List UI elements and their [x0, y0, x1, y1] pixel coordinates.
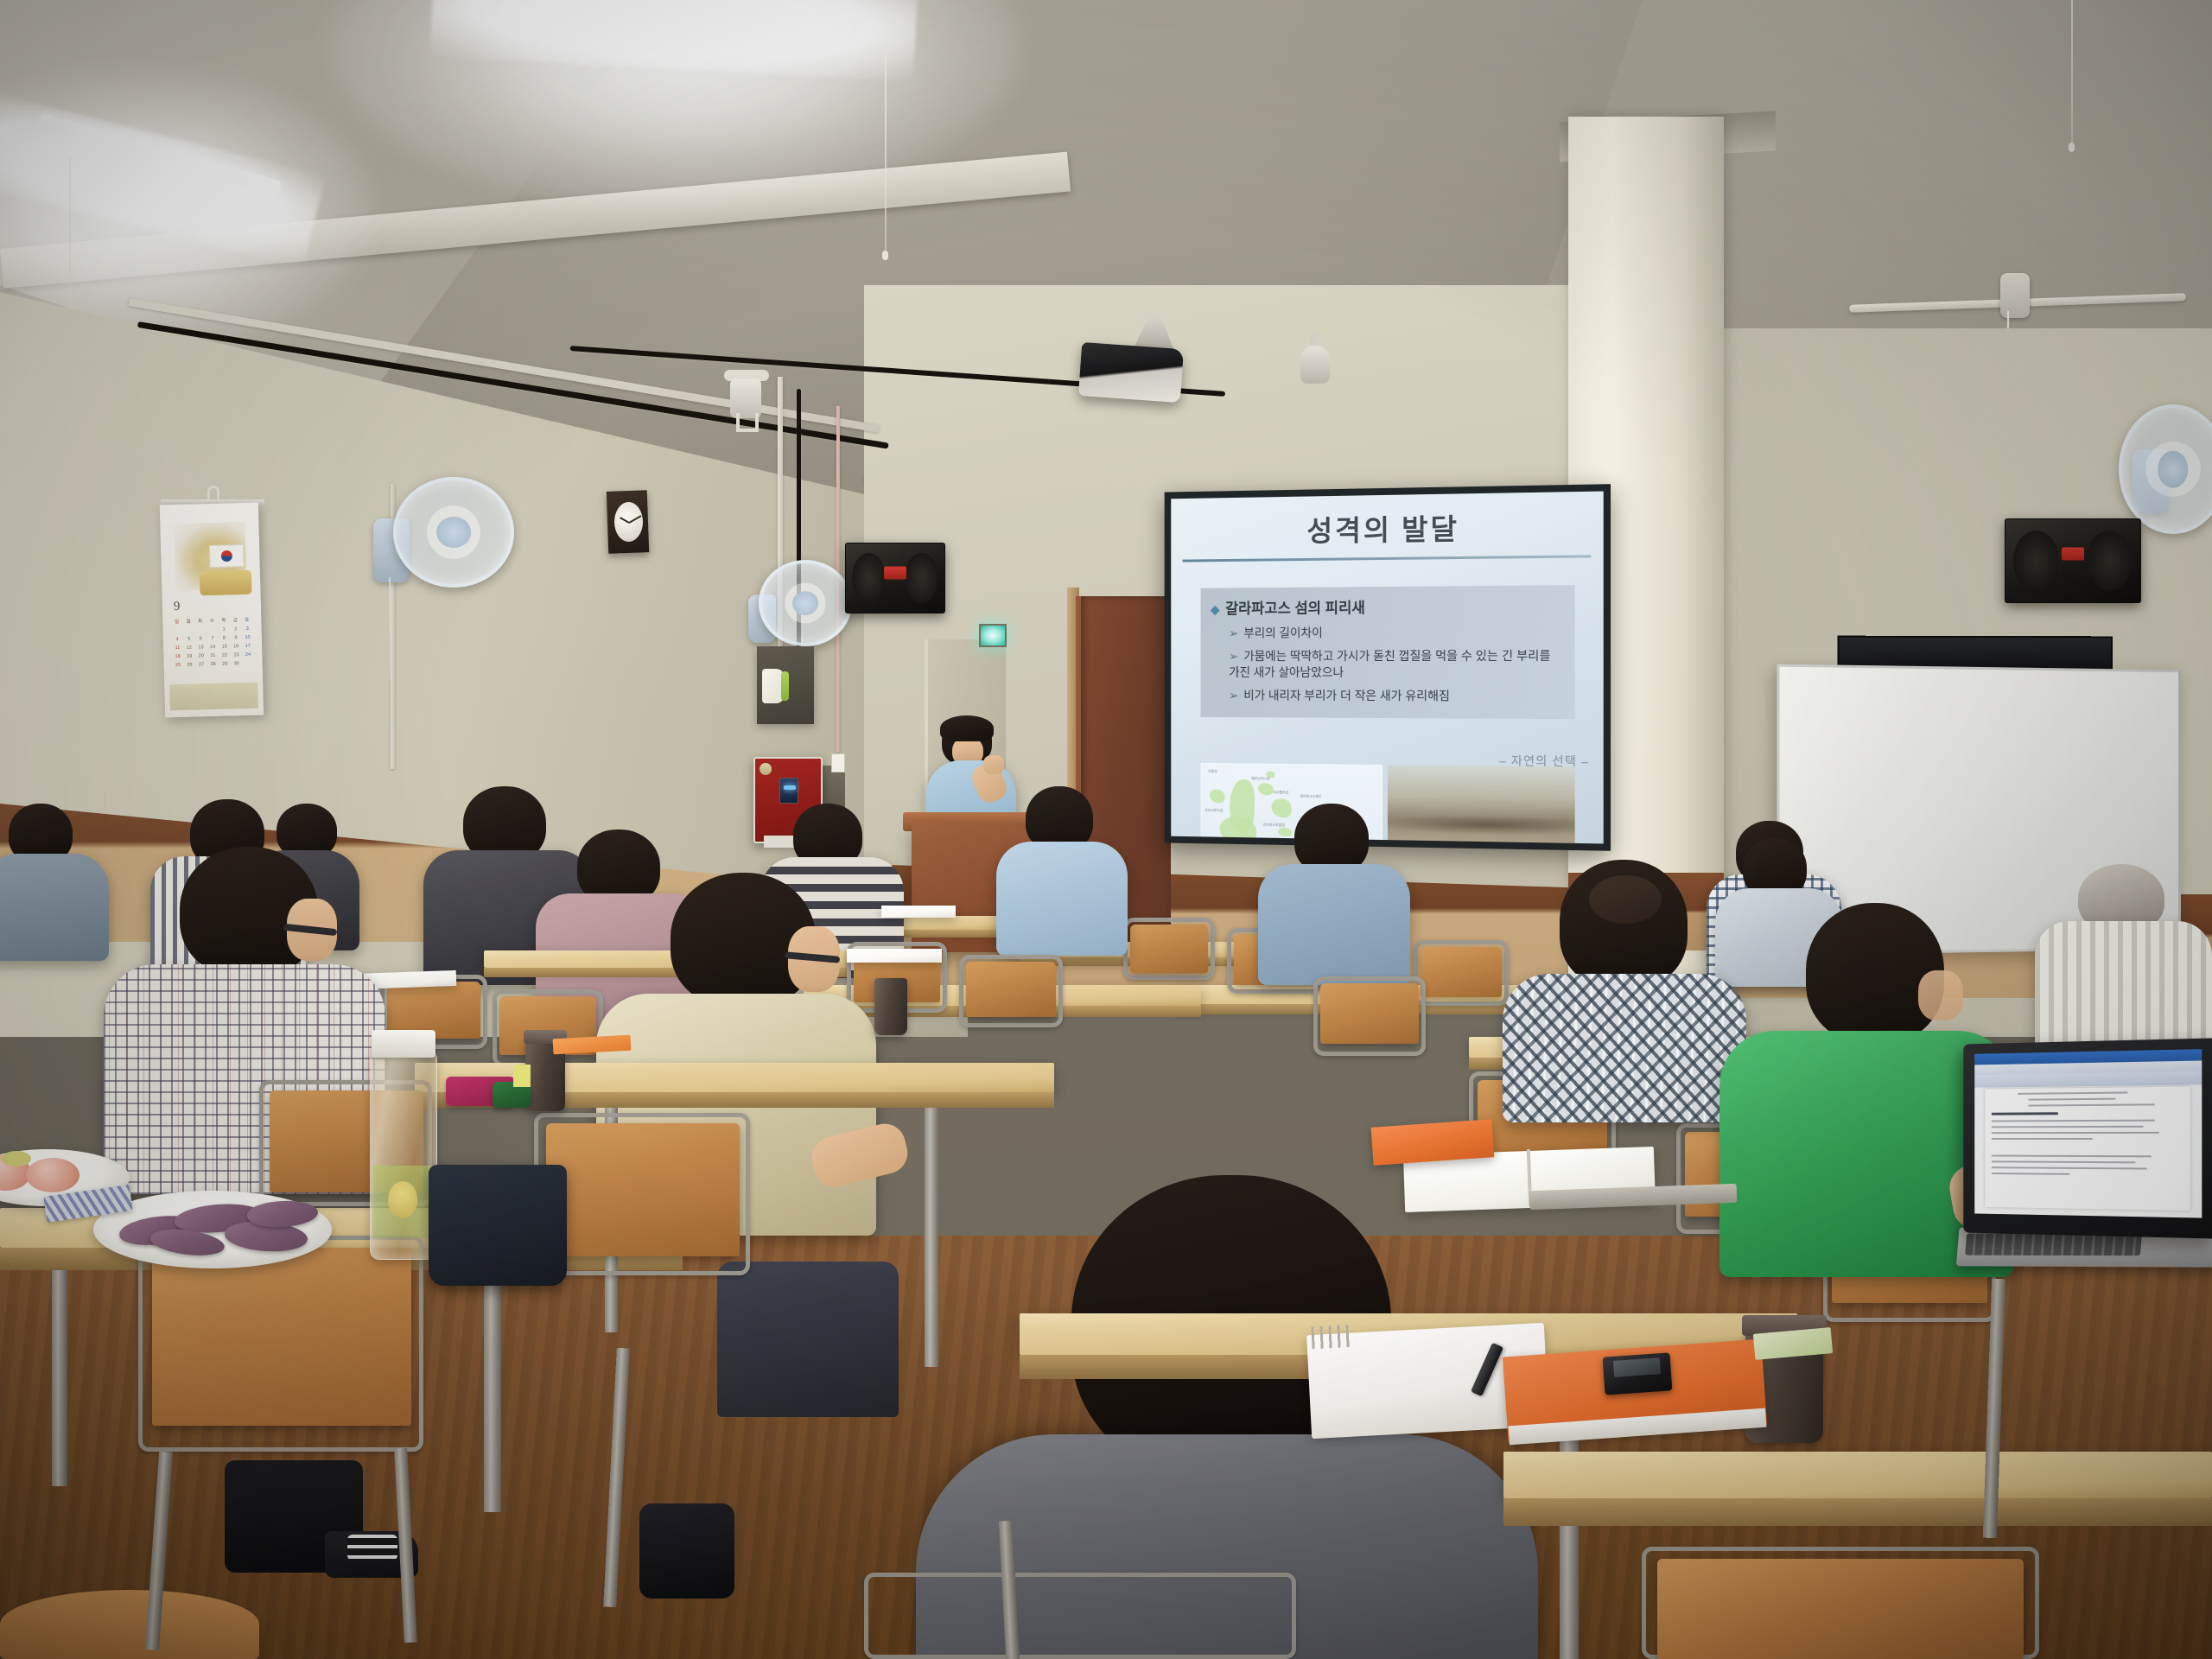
calendar-day: 11	[172, 645, 183, 652]
chair-backrest	[1421, 947, 1502, 997]
slide-bullet-2: ➢부리의 길이차이	[1229, 624, 1564, 641]
clock-hour-hand	[620, 517, 629, 524]
slide-body: ◆갈라파고스 섬의 피리새 ➢부리의 길이차이 ➢가뭄에는 딱딱하고 가시가 돋…	[1201, 585, 1575, 719]
calendar-day: 28	[207, 661, 219, 669]
attendee-ear-cheek	[1918, 970, 1963, 1020]
calendar-day: 22	[219, 652, 231, 659]
calendar-weekday-header: 월	[183, 619, 194, 626]
speaker-logo-left	[884, 566, 906, 579]
chair-backrest	[1657, 1559, 2024, 1659]
chair-backrest	[152, 1248, 411, 1426]
peach-slice	[26, 1158, 79, 1192]
map-island-label: 페르난디나섬	[1251, 776, 1269, 781]
projection-screen-surface: 성격의 발달 ◆갈라파고스 섬의 피리새 ➢부리의 길이차이 ➢가뭄에는 딱딱하…	[1171, 492, 1603, 844]
attendee-shirt	[0, 854, 109, 961]
paper-stack	[847, 949, 942, 963]
attendee-shirt	[996, 842, 1128, 956]
attendee-head	[1806, 903, 1944, 1043]
classroom-chair[interactable]	[864, 1573, 1296, 1659]
emergency-exit-sign	[979, 624, 1007, 647]
calendar-day: 15	[219, 643, 230, 651]
rice-cake-image	[200, 570, 252, 596]
attendee-trousers	[717, 1262, 899, 1417]
calendar-weekday-header: 화	[194, 618, 206, 626]
calendar-day	[195, 626, 207, 634]
calendar-day: 3	[242, 626, 253, 633]
calendar-day	[183, 627, 194, 635]
calendar-day	[243, 660, 254, 668]
calendar-day: 18	[172, 653, 183, 661]
chair-seat[interactable]	[0, 1590, 259, 1659]
wall-speaker-left	[845, 543, 945, 613]
calendar-day: 25	[173, 662, 184, 670]
slide-bullet-1: ◆갈라파고스 섬의 피리새	[1211, 594, 1564, 618]
desk	[1503, 1452, 2212, 1498]
chair-backrest	[546, 1123, 740, 1256]
light-pull-cord-knob-2[interactable]	[882, 251, 888, 260]
sweet-potato	[247, 1200, 319, 1229]
map-island-label: 이사벨라섬	[1273, 790, 1288, 795]
calendar-day: 12	[184, 645, 195, 652]
fruit-piece	[2, 1151, 31, 1166]
attendee-shirt	[1258, 864, 1410, 985]
desk-leg	[484, 1270, 501, 1512]
calendar-day: 7	[207, 635, 218, 643]
calendar-day	[172, 627, 183, 635]
bottle-cap[interactable]	[372, 1030, 435, 1058]
travel-mug-mid[interactable]	[874, 978, 907, 1035]
island-shape	[1220, 817, 1256, 843]
island-shape	[1258, 783, 1273, 795]
calendar-day: 17	[242, 643, 253, 651]
slide-bullet-2-text: 부리의 길이차이	[1243, 626, 1322, 639]
calendar-image	[174, 522, 246, 591]
clock-minute-hand	[628, 515, 641, 523]
attendee-shirt	[1503, 974, 1746, 1122]
attendee-bald-spot	[1589, 875, 1662, 924]
shoulder-bag	[429, 1165, 567, 1286]
calendar-day: 27	[196, 661, 207, 669]
light-pull-cord-3[interactable]	[2071, 0, 2073, 143]
calendar-day: 20	[195, 652, 207, 660]
calendar-weekday-header: 수	[207, 618, 218, 626]
purifier-display[interactable]	[779, 778, 798, 804]
wall-clock-face	[614, 502, 643, 542]
map-label: 갈라파고스제도	[1300, 794, 1322, 799]
attendee-white-hair-right	[2035, 864, 2212, 1063]
wall-fan-left-cord[interactable]	[389, 577, 391, 681]
electrical-box	[831, 753, 845, 772]
laptop-computer[interactable]	[1963, 1038, 2212, 1238]
slide-bullet-marker: ◆	[1211, 602, 1219, 616]
wall-calendar[interactable]: 9 일월화수목금토1234567891011121314151617181920…	[160, 503, 264, 718]
slide-bullet-3-marker: ➢	[1229, 649, 1238, 663]
calendar-month-label: 9	[174, 600, 181, 614]
calendar-day: 5	[183, 636, 194, 644]
map-island-label: 다윈섬	[1208, 769, 1217, 774]
purifier-badge	[760, 763, 772, 775]
light-pull-cord-1[interactable]	[69, 157, 71, 321]
attendee-grey-far-left	[0, 804, 112, 959]
chair-backrest	[1130, 925, 1208, 973]
wall-fan-left[interactable]	[393, 477, 514, 588]
calendar-weekday-header: 목	[219, 617, 230, 625]
slide-bullet-4: ➢비가 내리자 부리가 더 작은 새가 유리해짐	[1229, 687, 1564, 704]
calendar-day: 26	[184, 662, 195, 670]
calendar-day: 2	[230, 626, 241, 633]
calendar-day: 6	[195, 635, 207, 643]
slide-title: 성격의 발달	[1171, 504, 1603, 551]
island-shape	[1210, 789, 1224, 803]
chair-backrest	[966, 962, 1056, 1017]
slide-title-rule	[1183, 555, 1592, 562]
teddy-bear-decal	[388, 1181, 417, 1217]
laptop-toolbar	[1974, 1071, 2202, 1088]
calendar-day: 23	[231, 652, 242, 659]
track-spotlight-left-bracket	[736, 413, 759, 432]
map-island-label: 산타크루즈섬	[1205, 808, 1223, 813]
calendar-weekday-header: 금	[230, 617, 241, 625]
desk-leg	[925, 1108, 938, 1367]
ceiling-projector	[1078, 342, 1184, 403]
calendar-grid: 일월화수목금토123456789101112131415161718192021…	[171, 617, 254, 670]
track-spotlight-center	[1300, 346, 1330, 384]
ceiling-fan-right-upper	[1849, 268, 2186, 337]
calendar-weekday-header: 일	[171, 619, 182, 626]
calendar-footer	[169, 683, 258, 711]
desk-edge	[1503, 1498, 2212, 1526]
calendar-day: 29	[219, 660, 231, 668]
calendar-day: 8	[219, 634, 230, 642]
calendar-day: 24	[243, 652, 254, 659]
slide-bullet-1-text: 갈라파고스 섬의 피리새	[1225, 600, 1365, 617]
calendar-day: 16	[231, 643, 242, 651]
attendee-floral-shirt	[1499, 860, 1750, 1119]
water-bottle[interactable]	[370, 1052, 437, 1260]
presenter-hand	[983, 755, 1004, 774]
calendar-day: 14	[207, 644, 219, 652]
light-pull-cord-2[interactable]	[885, 52, 887, 251]
calendar-day: 13	[195, 644, 207, 652]
calendar-day: 4	[172, 636, 183, 644]
attendee-blue-shirt-front-row	[989, 786, 1136, 959]
calendar-day: 19	[184, 653, 195, 661]
wall-dispenser[interactable]	[762, 669, 785, 703]
laptop-document-page	[1986, 1086, 2190, 1211]
calendar-day: 1	[219, 626, 230, 633]
mobile-phone[interactable]	[1603, 1352, 1673, 1395]
paper-stack	[881, 906, 956, 918]
calendar-day: 30	[231, 660, 242, 668]
desk-leg	[52, 1270, 67, 1486]
slide-bullet-2-marker: ➢	[1229, 626, 1238, 640]
slide-bullet-4-text: 비가 내리자 부리가 더 작은 새가 유리해짐	[1243, 688, 1450, 702]
calendar-day	[207, 626, 218, 634]
laptop-screen	[1974, 1049, 2202, 1217]
lecture-room-photo: 9 일월화수목금토1234567891011121314151617181920…	[0, 0, 2212, 1659]
korean-flag-icon	[209, 544, 245, 568]
attendee-blue-shirt-center	[1253, 804, 1417, 985]
shoe-stripes	[347, 1535, 397, 1560]
presenter-hair	[940, 715, 994, 741]
notebook-spiral	[1311, 1325, 1355, 1350]
sticky-note	[513, 1065, 531, 1087]
wall-panel-dark	[757, 646, 814, 724]
calendar-day: 9	[231, 634, 242, 642]
calendar-day: 21	[207, 652, 219, 660]
wall-speaker-right	[2005, 518, 2141, 603]
chair-backrest	[1320, 983, 1419, 1044]
speaker-logo-right	[2062, 548, 2084, 561]
slide-bullet-3-text: 가뭄에는 딱딱하고 가시가 돋친 껍질을 먹을 수 있는 긴 부리를 가진 새가…	[1229, 649, 1550, 679]
shoe	[639, 1503, 734, 1599]
projection-screen: 성격의 발달 ◆갈라파고스 섬의 피리새 ➢부리의 길이차이 ➢가뭄에는 딱딱하…	[1165, 484, 1611, 851]
wall-fan-center[interactable]	[759, 560, 852, 646]
calendar-weekday-header: 토	[242, 617, 253, 625]
calendar-day: 10	[242, 634, 253, 642]
slide-bullet-3: ➢가뭄에는 딱딱하고 가시가 돋친 껍질을 먹을 수 있는 긴 부리를 가진 새…	[1229, 647, 1564, 680]
slide-bullet-4-marker: ➢	[1229, 688, 1238, 702]
light-pull-cord-knob-3[interactable]	[2069, 143, 2075, 152]
